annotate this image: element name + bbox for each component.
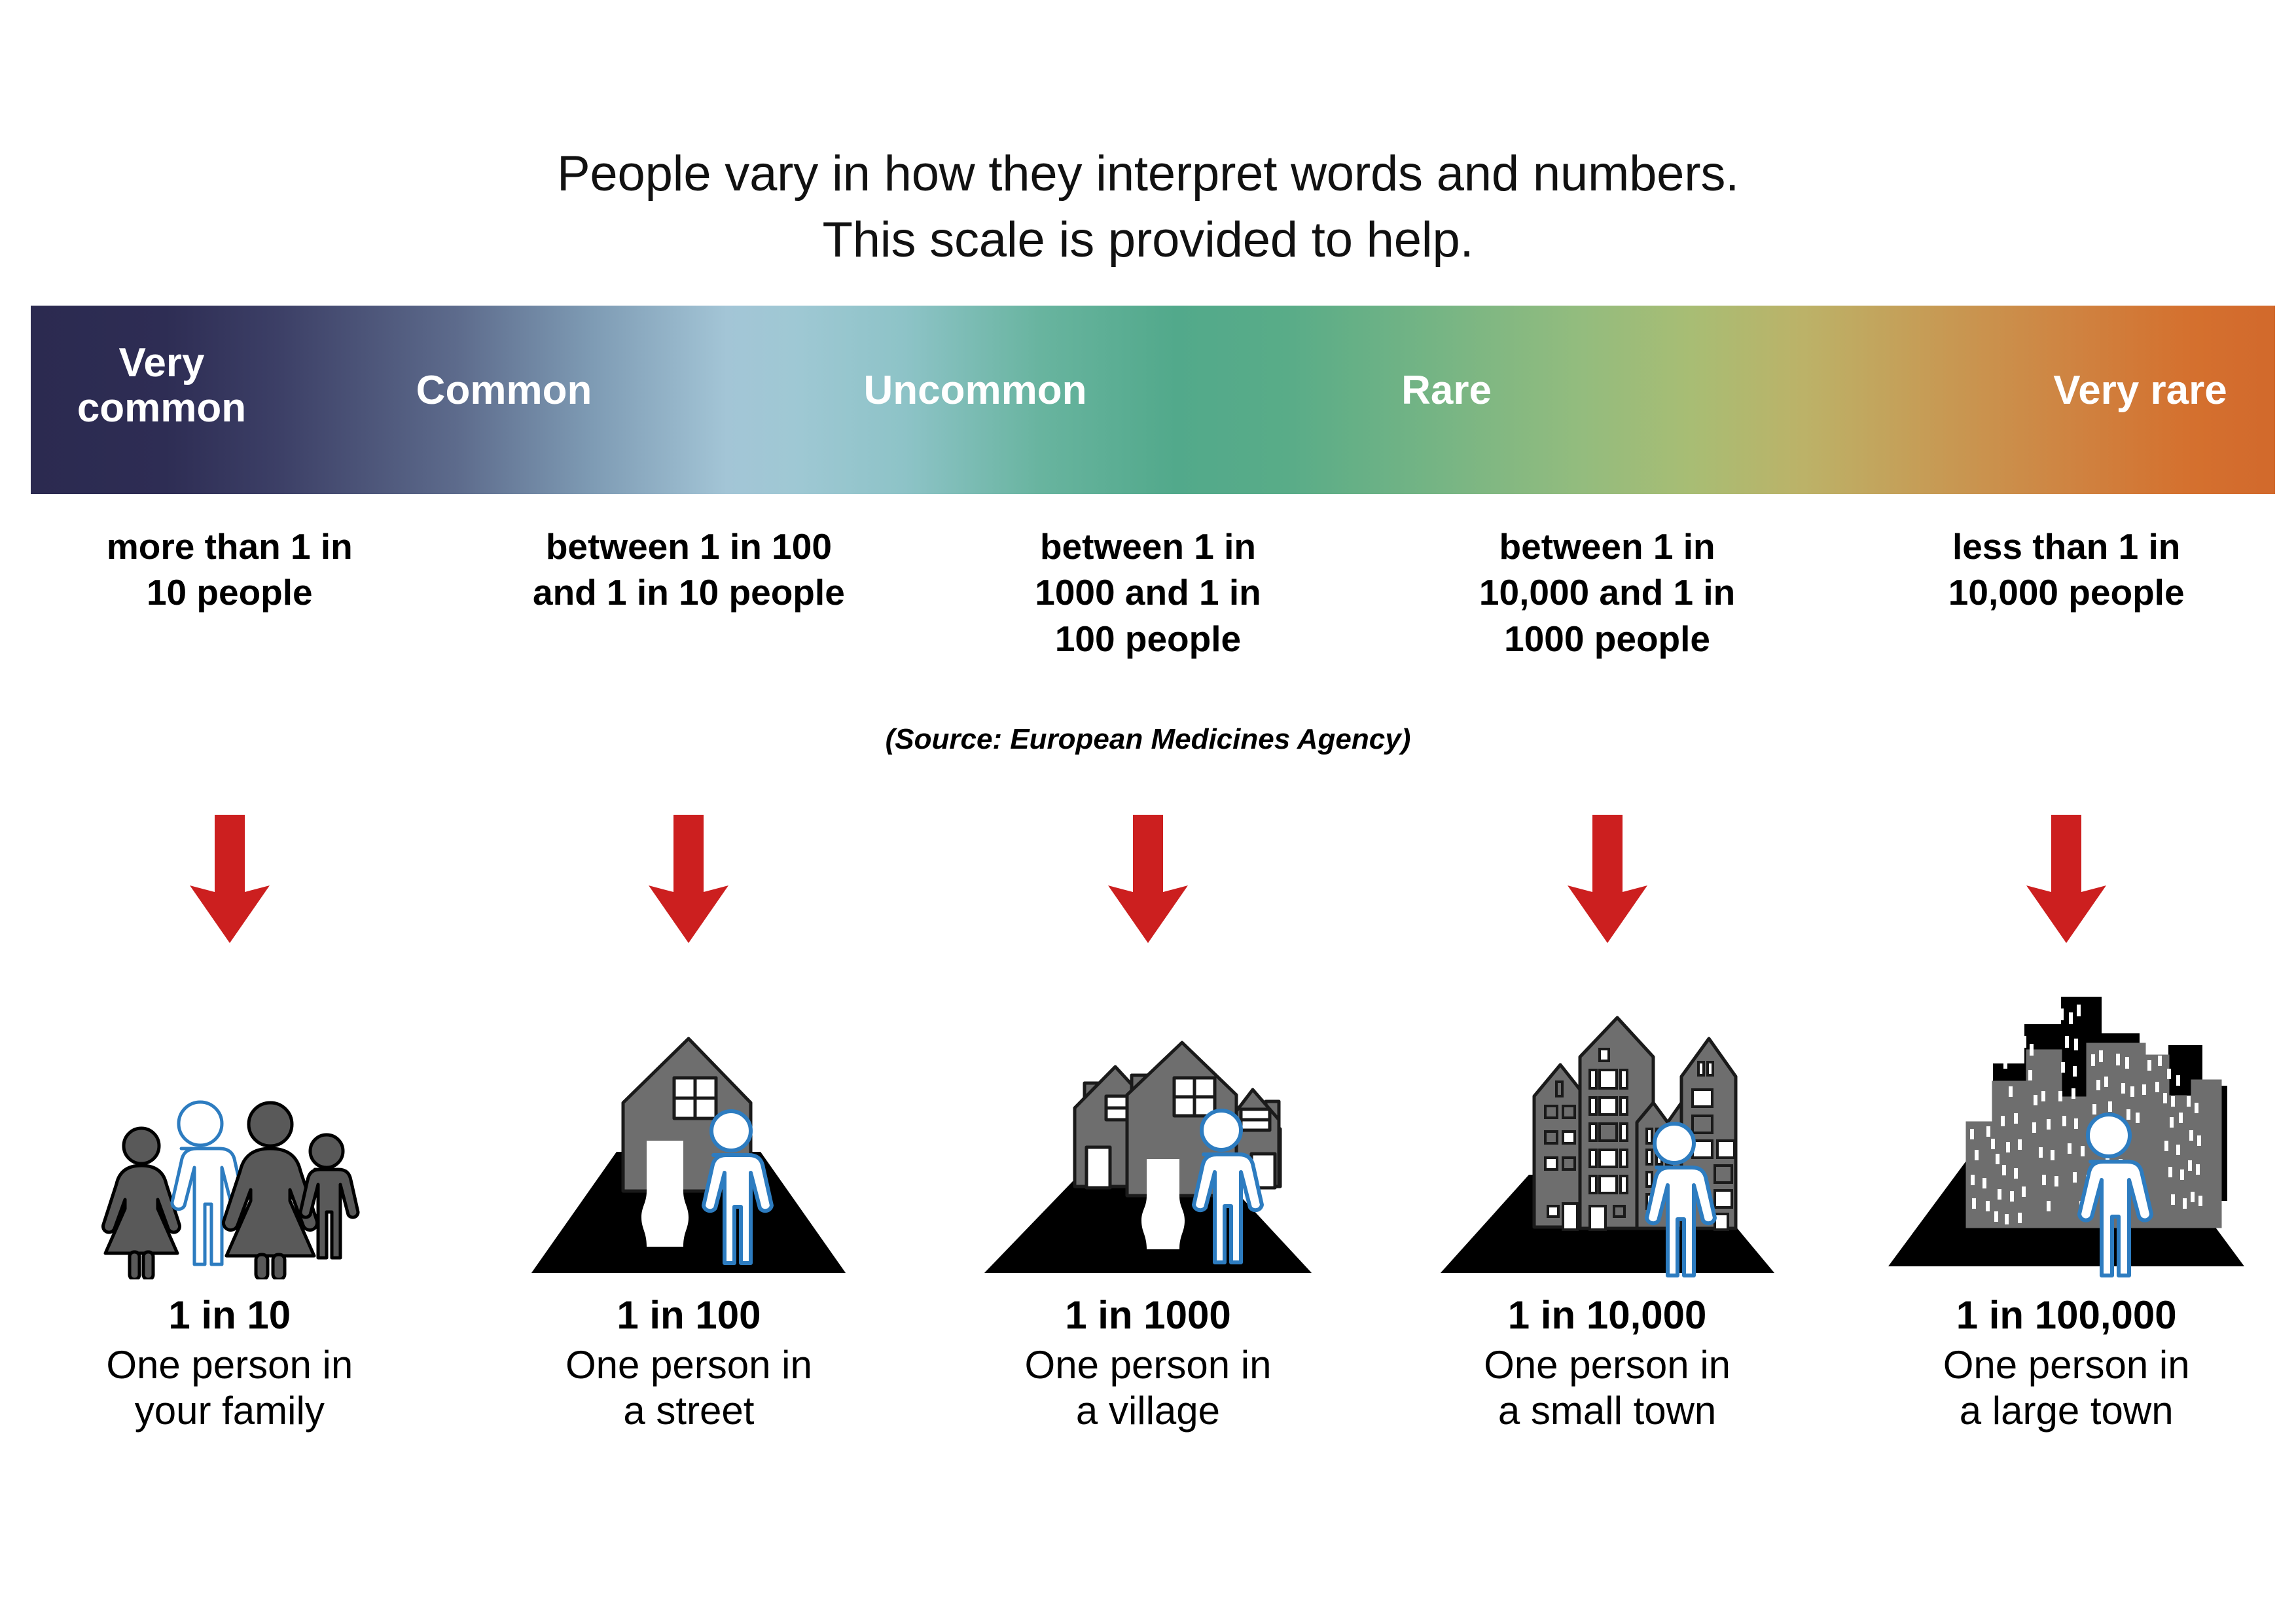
- scale-label-common: Common: [308, 368, 700, 413]
- pictogram-row: [0, 972, 2296, 1279]
- arrow-cell-uncommon: [918, 815, 1378, 943]
- scale-label-rare: Rare: [1250, 368, 1643, 413]
- caption-cell-street: 1 in 100 One person in a street: [459, 1293, 919, 1435]
- ratio-label-1-in-100000: 1 in 100,000: [1856, 1293, 2276, 1338]
- caption-row: 1 in 10 One person in your family 1 in 1…: [0, 1293, 2296, 1435]
- pictogram-cell-small-town: [1378, 998, 1837, 1279]
- frequency-description-uncommon: between 1 in 1000 and 1 in 100 people: [918, 524, 1378, 662]
- down-arrow-icon: [647, 815, 730, 943]
- pictogram-cell-street: [459, 1018, 919, 1279]
- arrow-cell-common: [459, 815, 919, 943]
- pictogram-cell-village: [918, 1018, 1378, 1279]
- infographic-page: People vary in how they interpret words …: [0, 0, 2296, 1623]
- frequency-description-very-rare: less than 1 in 10,000 people: [1837, 524, 2296, 662]
- down-arrow-icon: [1107, 815, 1189, 943]
- caption-text-large-town: One person in a large town: [1856, 1342, 2276, 1435]
- scale-label-very-common: Very common: [31, 340, 293, 431]
- house-street-icon: [525, 1018, 852, 1279]
- page-title: People vary in how they interpret words …: [0, 141, 2296, 273]
- caption-text-village: One person in a village: [938, 1342, 1358, 1435]
- down-arrow-icon: [1566, 815, 1649, 943]
- caption-cell-village: 1 in 1000 One person in a village: [918, 1293, 1378, 1435]
- title-line-2: This scale is provided to help.: [0, 207, 2296, 273]
- arrow-cell-very-common: [0, 815, 459, 943]
- ratio-label-1-in-10: 1 in 10: [20, 1293, 440, 1338]
- scale-label-very-rare: Very rare: [1944, 368, 2296, 413]
- family-boy-figure: [300, 1135, 358, 1258]
- pictogram-cell-large-town: [1837, 978, 2296, 1279]
- arrow-cell-rare: [1378, 815, 1837, 943]
- small-town-buildings-icon: [1431, 998, 1784, 1279]
- house-door: [647, 1141, 683, 1191]
- house-path: [641, 1191, 689, 1247]
- ratio-label-1-in-1000: 1 in 1000: [938, 1293, 1358, 1338]
- down-arrow-icon: [2025, 815, 2108, 943]
- large-town-skyline-icon: [1883, 978, 2250, 1279]
- family-woman-figure: [223, 1103, 317, 1279]
- village-houses-icon: [978, 1018, 1318, 1279]
- family-girl-figure: [103, 1128, 179, 1279]
- arrow-cell-very-rare: [1837, 815, 2296, 943]
- frequency-description-rare: between 1 in 10,000 and 1 in 1000 people: [1378, 524, 1837, 662]
- caption-text-street: One person in a street: [479, 1342, 899, 1435]
- scale-label-uncommon: Uncommon: [779, 368, 1172, 413]
- source-attribution: (Source: European Medicines Agency): [0, 723, 2296, 756]
- caption-text-family: One person in your family: [20, 1342, 440, 1435]
- arrow-row: [0, 815, 2296, 943]
- caption-text-small-town: One person in a small town: [1397, 1342, 1818, 1435]
- house-door: [1147, 1159, 1179, 1196]
- ratio-label-1-in-100: 1 in 100: [479, 1293, 899, 1338]
- frequency-description-row: more than 1 in 10 people between 1 in 10…: [0, 524, 2296, 662]
- family-group-icon: [99, 1083, 361, 1279]
- pictogram-cell-family: [0, 1083, 459, 1279]
- frequency-description-very-common: more than 1 in 10 people: [0, 524, 459, 662]
- caption-cell-small-town: 1 in 10,000 One person in a small town: [1378, 1293, 1837, 1435]
- frequency-description-common: between 1 in 100 and 1 in 10 people: [459, 524, 919, 662]
- down-arrow-icon: [188, 815, 271, 943]
- caption-cell-large-town: 1 in 100,000 One person in a large town: [1837, 1293, 2296, 1435]
- caption-cell-family: 1 in 10 One person in your family: [0, 1293, 459, 1435]
- ratio-label-1-in-10000: 1 in 10,000: [1397, 1293, 1818, 1338]
- title-line-1: People vary in how they interpret words …: [557, 146, 1739, 202]
- house-path: [1141, 1196, 1185, 1249]
